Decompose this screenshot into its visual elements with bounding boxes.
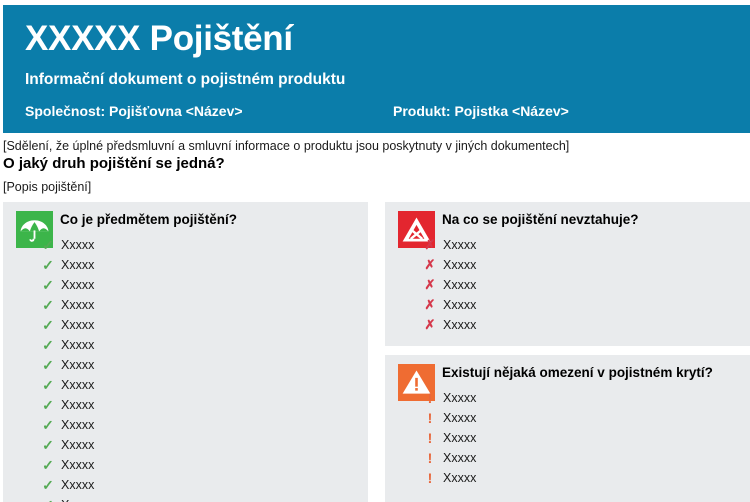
list-item-label: Xxxxx bbox=[443, 448, 476, 468]
list-item-label: Xxxxx bbox=[443, 235, 476, 255]
list-item-mark-icon: ! bbox=[423, 448, 437, 468]
header-subtitle: Informační dokument o pojistném produktu bbox=[25, 71, 750, 89]
panel-coverage-limits: Existují nějaká omezení v pojistném kryt… bbox=[385, 355, 750, 502]
list-item-label: Xxxxx bbox=[61, 475, 94, 495]
list-item-label: Xxxxx bbox=[443, 428, 476, 448]
list-item-label: Xxxxx bbox=[443, 295, 476, 315]
list-item-label: Xxxxx bbox=[61, 435, 94, 455]
list-item: !Xxxxx bbox=[385, 448, 750, 468]
list-item-label: Xxxxx bbox=[443, 275, 476, 295]
list-item: ✓Xxxxx bbox=[3, 255, 368, 275]
list-item: ✗Xxxxx bbox=[385, 275, 750, 295]
list-item-label: Xxxxx bbox=[61, 375, 94, 395]
list-item-mark-icon: ✓ bbox=[41, 255, 55, 275]
list-item-label: Xxxxx bbox=[61, 395, 94, 415]
list-item-mark-icon: ✓ bbox=[41, 315, 55, 335]
list-item: !Xxxxx bbox=[385, 428, 750, 448]
list-item: ✓Xxxxx bbox=[3, 375, 368, 395]
list-item-mark-icon: ✗ bbox=[423, 275, 437, 295]
list-item: ✓Xxxxx bbox=[3, 315, 368, 335]
page-title: XXXXX Pojištění bbox=[25, 19, 750, 59]
panel-subject-list: ✓Xxxxx✓Xxxxx✓Xxxxx✓Xxxxx✓Xxxxx✓Xxxxx✓Xxx… bbox=[3, 235, 368, 502]
panel-exclusions: Na co se pojištění nevztahuje? ✗Xxxxx✗Xx… bbox=[385, 202, 750, 346]
list-item-mark-icon: ✗ bbox=[423, 255, 437, 275]
list-item-label: Xxxxx bbox=[61, 315, 94, 335]
list-item-mark-icon: ✓ bbox=[41, 275, 55, 295]
intro-note: [Sdělení, že úplné předsmluvní a smluvní… bbox=[3, 139, 569, 153]
list-item-mark-icon: ✓ bbox=[41, 335, 55, 355]
list-item-label: Xxxxx bbox=[61, 295, 94, 315]
header-company: Společnost: Pojišťovna <Název> bbox=[25, 103, 243, 119]
list-item-mark-icon: ✓ bbox=[41, 435, 55, 455]
list-item-mark-icon: ! bbox=[423, 428, 437, 448]
list-item: ✓Xxxxx bbox=[3, 235, 368, 255]
list-item-label: Xxxxx bbox=[61, 495, 94, 502]
list-item-label: Xxxxx bbox=[61, 455, 94, 475]
list-item-label: Xxxxx bbox=[443, 315, 476, 335]
list-item: ✗Xxxxx bbox=[385, 235, 750, 255]
list-item-mark-icon: ✗ bbox=[423, 235, 437, 255]
list-item-mark-icon: ✓ bbox=[41, 375, 55, 395]
panel-subject-of-insurance: Co je předmětem pojištění? ✓Xxxxx✓Xxxxx✓… bbox=[3, 202, 368, 502]
list-item: ✗Xxxxx bbox=[385, 315, 750, 335]
list-item-label: Xxxxx bbox=[61, 275, 94, 295]
list-item-mark-icon: ✓ bbox=[41, 235, 55, 255]
panel-limits-title: Existují nějaká omezení v pojistném kryt… bbox=[442, 365, 713, 380]
list-item-mark-icon: ✓ bbox=[41, 295, 55, 315]
list-item-mark-icon: ✗ bbox=[423, 315, 437, 335]
list-item-label: Xxxxx bbox=[61, 255, 94, 275]
list-item-label: Xxxxx bbox=[61, 335, 94, 355]
list-item: ✓Xxxxx bbox=[3, 355, 368, 375]
list-item: ✓Xxxxx bbox=[3, 435, 368, 455]
intro-description: [Popis pojištění] bbox=[3, 180, 91, 194]
list-item: !Xxxxx bbox=[385, 408, 750, 428]
list-item: ✗Xxxxx bbox=[385, 255, 750, 275]
list-item-mark-icon: ✓ bbox=[41, 355, 55, 375]
list-item-label: Xxxxx bbox=[61, 415, 94, 435]
header-product: Produkt: Pojistka <Název> bbox=[393, 103, 569, 119]
list-item: ✗Xxxxx bbox=[385, 295, 750, 315]
list-item: ✓Xxxxx bbox=[3, 455, 368, 475]
panel-limits-list: !Xxxxx!Xxxxx!Xxxxx!Xxxxx!Xxxxx bbox=[385, 388, 750, 488]
list-item: ✓Xxxxx bbox=[3, 295, 368, 315]
list-item-mark-icon: ! bbox=[423, 468, 437, 488]
list-item: ✓Xxxxx bbox=[3, 335, 368, 355]
list-item: ✓Xxxxx bbox=[3, 275, 368, 295]
panel-exclusions-title: Na co se pojištění nevztahuje? bbox=[442, 212, 639, 227]
list-item-mark-icon: ! bbox=[423, 408, 437, 428]
list-item-mark-icon: ! bbox=[423, 388, 437, 408]
list-item: !Xxxxx bbox=[385, 468, 750, 488]
list-item: !Xxxxx bbox=[385, 388, 750, 408]
list-item-mark-icon: ✓ bbox=[41, 415, 55, 435]
list-item-label: Xxxxx bbox=[443, 408, 476, 428]
list-item: ✓Xxxxx bbox=[3, 415, 368, 435]
list-item-label: Xxxxx bbox=[443, 388, 476, 408]
document-header: XXXXX Pojištění Informační dokument o po… bbox=[3, 5, 750, 133]
panel-subject-title: Co je předmětem pojištění? bbox=[60, 212, 237, 227]
list-item-label: Xxxxx bbox=[443, 468, 476, 488]
list-item: ✓Xxxxx bbox=[3, 395, 368, 415]
list-item-label: Xxxxx bbox=[61, 235, 94, 255]
list-item-mark-icon: ✗ bbox=[423, 295, 437, 315]
header-meta-row: Společnost: Pojišťovna <Název> Produkt: … bbox=[25, 103, 750, 123]
list-item-mark-icon: ✓ bbox=[41, 455, 55, 475]
list-item-mark-icon: ✓ bbox=[41, 495, 55, 502]
list-item-label: Xxxxx bbox=[61, 355, 94, 375]
list-item-label: Xxxxx bbox=[443, 255, 476, 275]
list-item: ✓Xxxxx bbox=[3, 495, 368, 502]
list-item: ✓Xxxxx bbox=[3, 475, 368, 495]
panel-exclusions-list: ✗Xxxxx✗Xxxxx✗Xxxxx✗Xxxxx✗Xxxxx bbox=[385, 235, 750, 335]
intro-question: O jaký druh pojištění se jedná? bbox=[3, 155, 225, 172]
list-item-mark-icon: ✓ bbox=[41, 395, 55, 415]
list-item-mark-icon: ✓ bbox=[41, 475, 55, 495]
